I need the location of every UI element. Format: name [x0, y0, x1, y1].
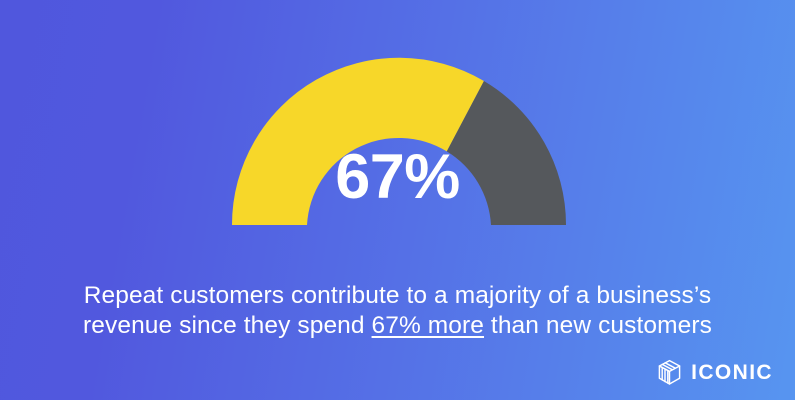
- brand-logo-text: ICONIC: [691, 362, 773, 383]
- gauge-filled-segment: [232, 58, 484, 225]
- caption-part-2: than new customers: [484, 312, 712, 339]
- infographic-canvas: 67% Repeat customers contribute to a maj…: [0, 0, 795, 400]
- caption-highlight: 67% more: [372, 312, 484, 339]
- gauge-svg: [0, 0, 795, 245]
- caption-text: Repeat customers contribute to a majorit…: [78, 281, 718, 341]
- brand-logo: ICONIC: [657, 359, 773, 386]
- gauge-chart: 67%: [0, 0, 795, 245]
- gauge-value-label: 67%: [0, 146, 795, 209]
- gauge-track-segment: [447, 81, 566, 225]
- isometric-cube-icon: [657, 359, 682, 386]
